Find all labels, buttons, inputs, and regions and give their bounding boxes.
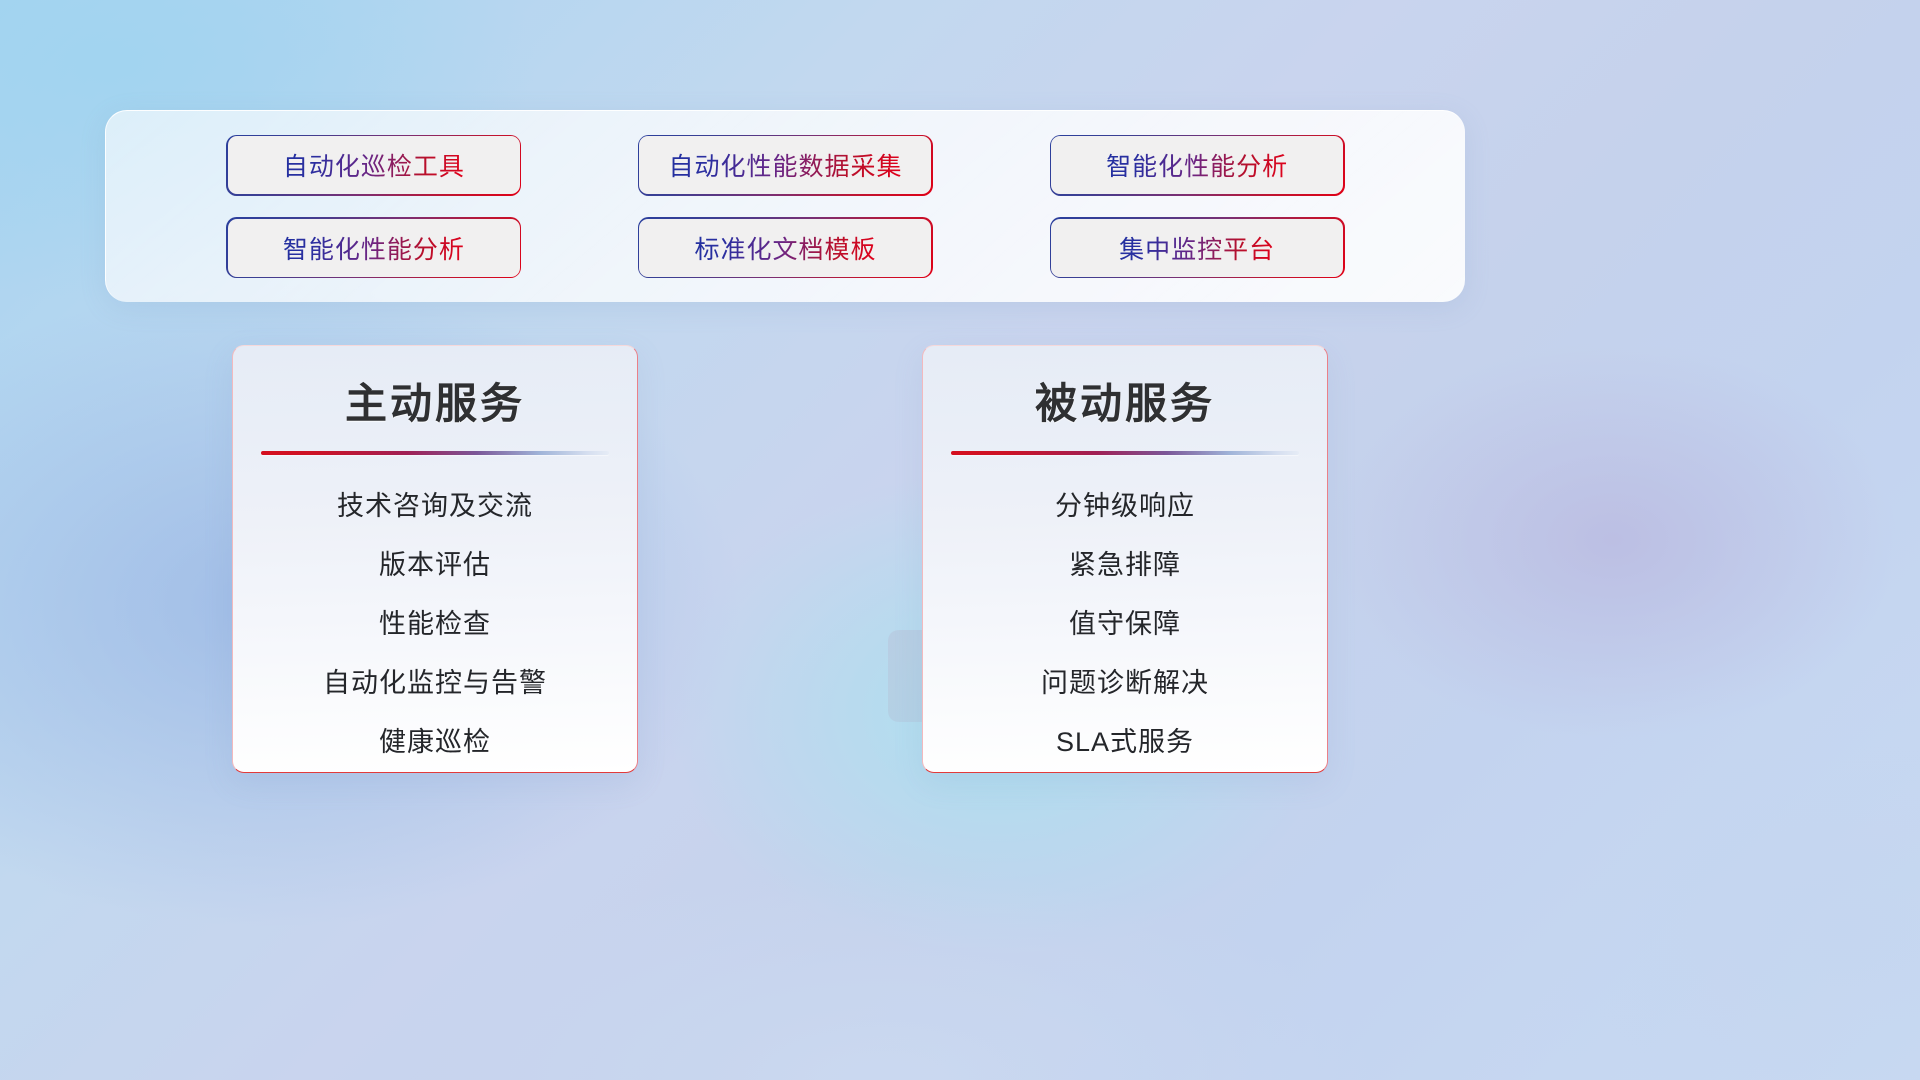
card-title: 被动服务 — [1035, 370, 1215, 431]
list-item: 分钟级响应 — [1055, 477, 1195, 536]
card-title-divider — [261, 451, 609, 455]
list-item: 性能检查 — [379, 595, 491, 654]
capability-tag-panel: 自动化巡检工具 自动化性能数据采集 智能化性能分析 智能化性能分析 标准化文档模… — [105, 110, 1465, 302]
capability-tag-2[interactable]: 智能化性能分析 — [1051, 136, 1343, 194]
capability-tag-label: 标准化文档模板 — [694, 230, 876, 266]
capability-tag-label: 自动化性能数据采集 — [668, 147, 902, 183]
card-title: 主动服务 — [345, 370, 525, 431]
capability-tag-0[interactable]: 自动化巡检工具 — [228, 136, 520, 194]
capability-tag-label: 集中监控平台 — [1119, 230, 1275, 266]
capability-tag-4[interactable]: 标准化文档模板 — [639, 219, 931, 277]
capability-tag-label: 自动化巡检工具 — [283, 147, 465, 183]
list-item: 问题诊断解决 — [1041, 654, 1209, 713]
capability-tag-label: 智能化性能分析 — [1106, 147, 1288, 183]
list-item: SLA式服务 — [1056, 713, 1194, 772]
capability-tag-label: 智能化性能分析 — [283, 230, 465, 266]
list-item: 自动化监控与告警 — [323, 654, 547, 713]
list-item: 值守保障 — [1069, 595, 1181, 654]
service-card-proactive: 主动服务 技术咨询及交流 版本评估 性能检查 自动化监控与告警 健康巡检 — [232, 345, 638, 773]
capability-tag-3[interactable]: 智能化性能分析 — [228, 219, 520, 277]
card-item-list: 技术咨询及交流 版本评估 性能检查 自动化监控与告警 健康巡检 — [233, 477, 637, 772]
capability-tag-1[interactable]: 自动化性能数据采集 — [639, 136, 931, 194]
list-item: 紧急排障 — [1069, 536, 1181, 595]
card-item-list: 分钟级响应 紧急排障 值守保障 问题诊断解决 SLA式服务 — [923, 477, 1327, 772]
list-item: 技术咨询及交流 — [337, 477, 533, 536]
list-item: 健康巡检 — [379, 713, 491, 772]
card-title-divider — [951, 451, 1299, 455]
service-card-reactive: 被动服务 分钟级响应 紧急排障 值守保障 问题诊断解决 SLA式服务 — [922, 345, 1328, 773]
list-item: 版本评估 — [379, 536, 491, 595]
capability-tag-5[interactable]: 集中监控平台 — [1051, 219, 1343, 277]
